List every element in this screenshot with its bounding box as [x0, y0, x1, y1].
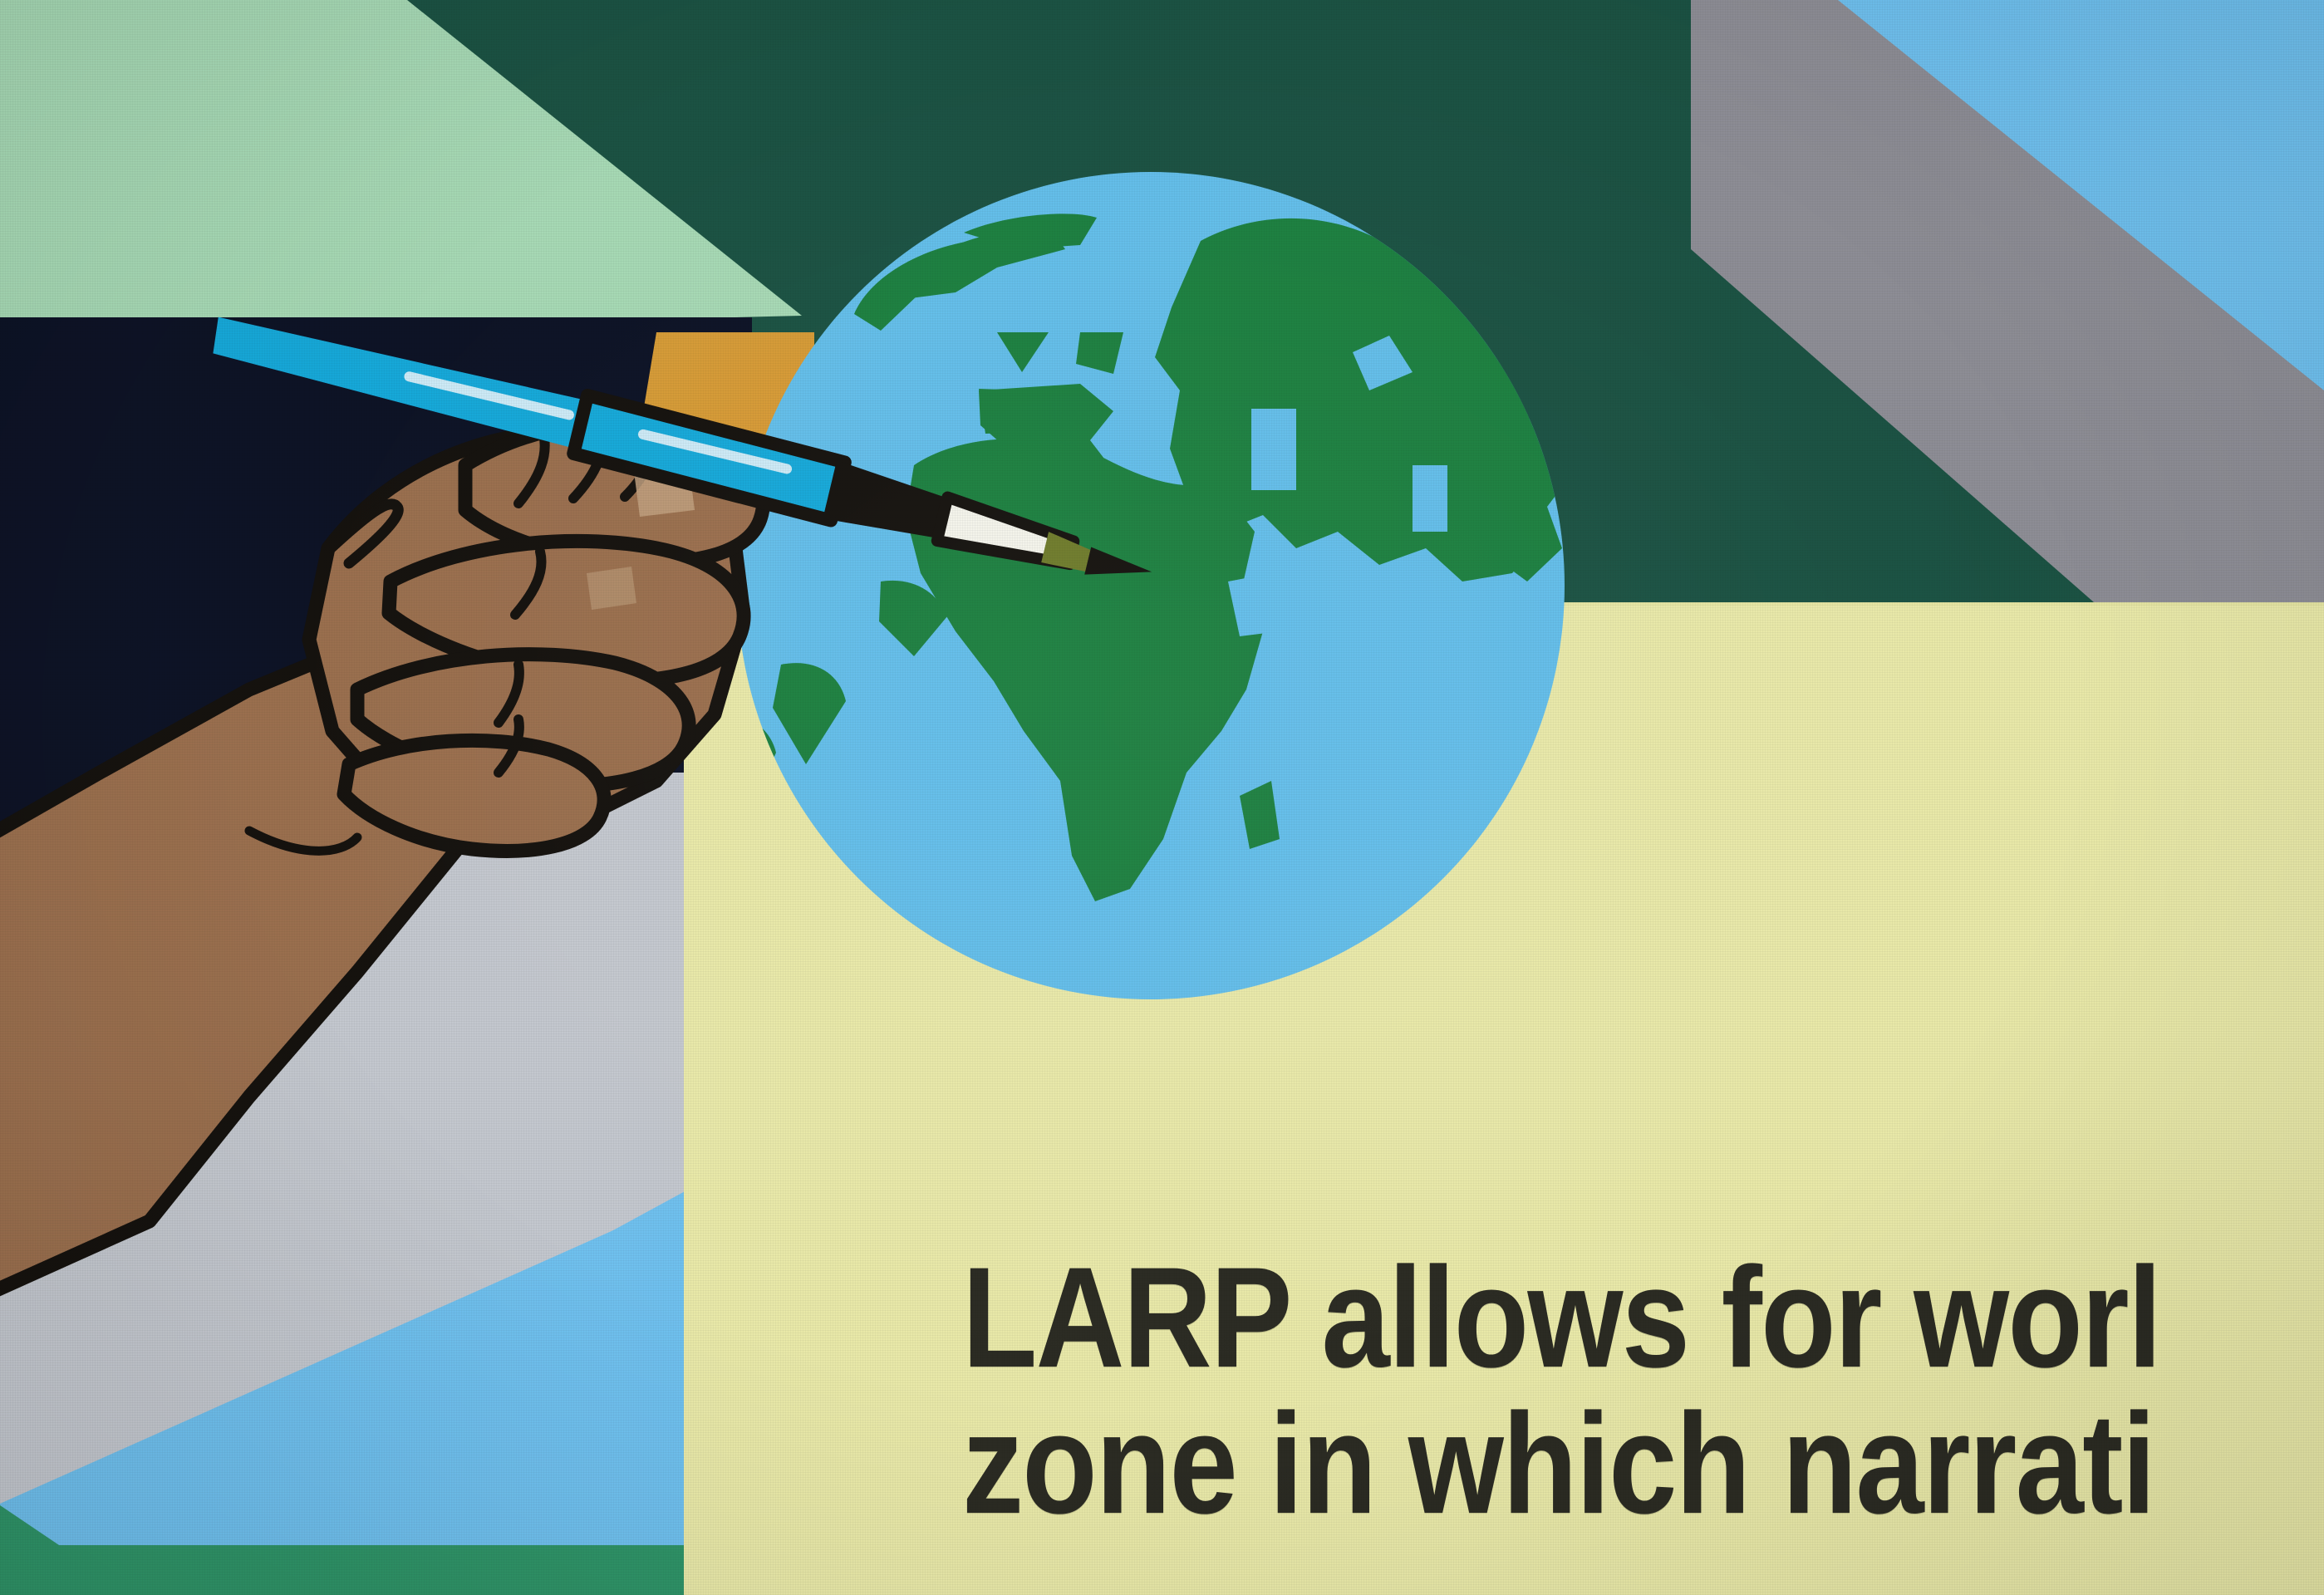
artwork-canvas: LARP allows for worl zone in which narra…	[0, 0, 2324, 1595]
globe-ocean-notch-d	[1413, 465, 1447, 532]
fingernail-middle	[587, 567, 636, 610]
globe-ocean-notch-a	[1251, 409, 1296, 490]
continent-europe-west	[979, 389, 1030, 434]
caption-text-block: LARP allows for worl zone in which narra…	[962, 1244, 2320, 1537]
caption-line-1: LARP allows for worl	[962, 1244, 2320, 1391]
caption-line-2: zone in which narrati	[962, 1391, 2320, 1537]
